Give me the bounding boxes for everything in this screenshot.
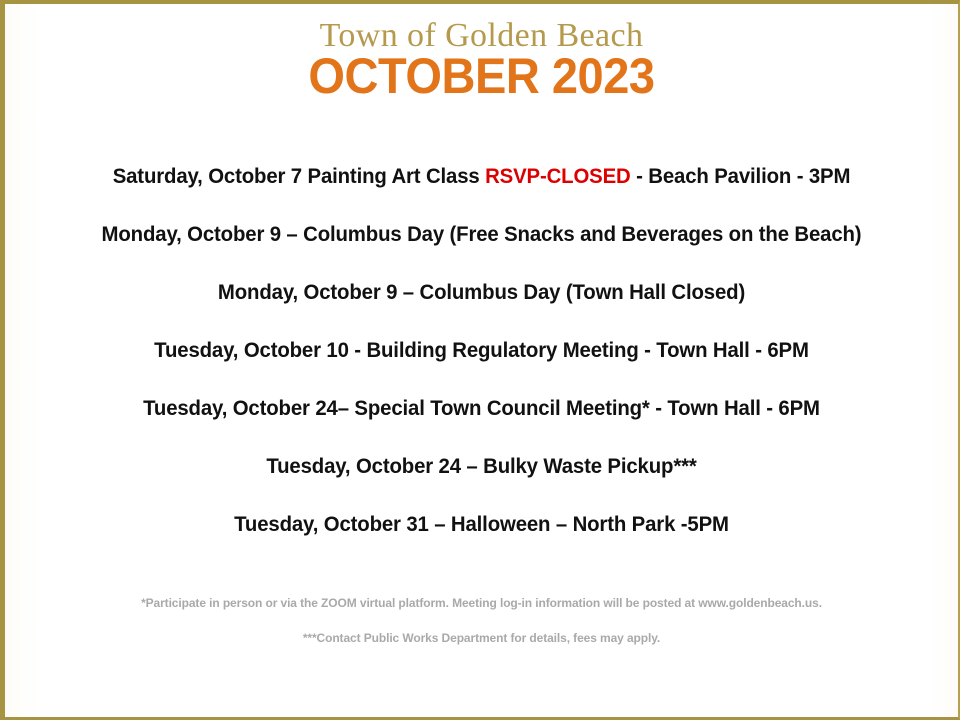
- event-text-before: Tuesday, October 24 – Bulky Waste Pickup…: [266, 455, 696, 478]
- event-line: Tuesday, October 24 – Bulky Waste Pickup…: [39, 454, 925, 480]
- footnote-zoom-participation: *Participate in person or via the ZOOM v…: [29, 596, 934, 611]
- event-text-after: - Beach Pavilion - 3PM: [631, 165, 851, 188]
- event-text-before: Tuesday, October 24– Special Town Counci…: [143, 397, 820, 420]
- event-line: Tuesday, October 10 - Building Regulator…: [39, 338, 925, 364]
- flyer-document: Town of Golden Beach OCTOBER 2023 Saturd…: [0, 0, 960, 720]
- event-line: Monday, October 9 – Columbus Day (Free S…: [39, 222, 925, 248]
- event-line: Tuesday, October 31 – Halloween – North …: [39, 512, 925, 538]
- footnote-public-works: ***Contact Public Works Department for d…: [29, 631, 934, 646]
- events-list: Saturday, October 7 Painting Art Class R…: [25, 164, 938, 538]
- event-line: Tuesday, October 24– Special Town Counci…: [39, 396, 925, 422]
- footnotes-section: *Participate in person or via the ZOOM v…: [29, 596, 934, 646]
- event-text-before: Saturday, October 7 Painting Art Class: [113, 165, 485, 188]
- event-text-before: Monday, October 9 – Columbus Day (Town H…: [218, 281, 745, 304]
- event-highlight-rsvp-closed: RSVP-CLOSED: [485, 165, 631, 188]
- event-line: Monday, October 9 – Columbus Day (Town H…: [39, 280, 925, 306]
- event-text-before: Tuesday, October 10 - Building Regulator…: [154, 339, 809, 362]
- event-text-before: Monday, October 9 – Columbus Day (Free S…: [102, 223, 862, 246]
- event-text-before: Tuesday, October 31 – Halloween – North …: [234, 513, 729, 536]
- month-year-title: OCTOBER 2023: [34, 50, 930, 102]
- flyer-header: Town of Golden Beach OCTOBER 2023: [5, 18, 958, 102]
- event-line: Saturday, October 7 Painting Art Class R…: [39, 164, 925, 190]
